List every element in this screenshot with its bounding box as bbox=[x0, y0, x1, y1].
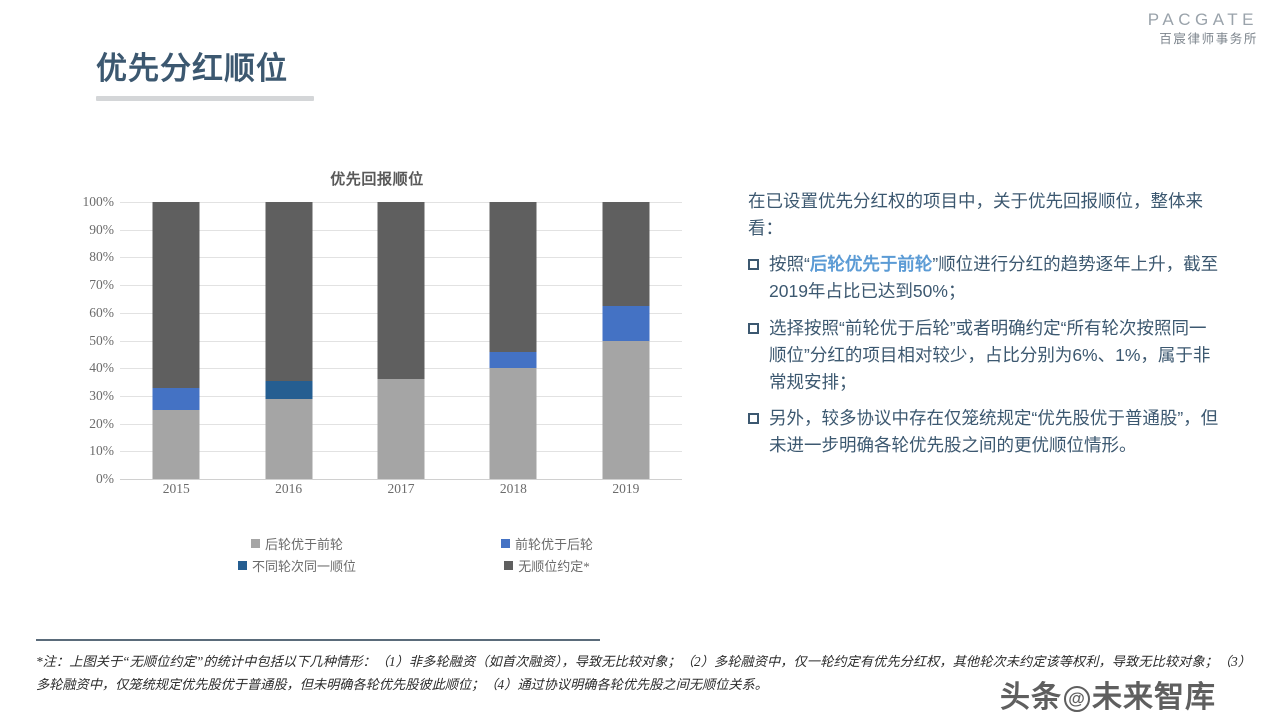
y-axis-tick-label: 40% bbox=[89, 360, 114, 376]
bar-segment[interactable] bbox=[153, 388, 200, 410]
x-axis-tick-label: 2016 bbox=[232, 481, 344, 497]
bar-slot-2017[interactable] bbox=[345, 202, 457, 479]
legend-swatch-icon bbox=[504, 561, 513, 570]
y-axis-tick-label: 50% bbox=[89, 333, 114, 349]
stacked-bar[interactable] bbox=[602, 202, 649, 479]
bar-slot-2018[interactable] bbox=[457, 202, 569, 479]
x-axis: 20152016201720182019 bbox=[120, 481, 682, 497]
at-icon: @ bbox=[1064, 686, 1090, 712]
y-axis-tick-label: 70% bbox=[89, 277, 114, 293]
bar-segment[interactable] bbox=[490, 202, 537, 352]
bullet-square-icon bbox=[748, 259, 759, 270]
legend-swatch-icon bbox=[501, 539, 510, 548]
x-axis-tick-label: 2015 bbox=[120, 481, 232, 497]
bar-segment[interactable] bbox=[602, 202, 649, 306]
commentary-bullet: 另外，较多协议中存在仅笼统规定“优先股优于普通股”，但未进一步明确各轮优先股之间… bbox=[748, 405, 1220, 459]
bullet-square-icon bbox=[748, 413, 759, 424]
commentary-bullet-text: 选择按照“前轮优于后轮”或者明确约定“所有轮次按照同一顺位”分红的项目相对较少，… bbox=[769, 315, 1220, 396]
legend-item[interactable]: 不同轮次同一顺位 bbox=[172, 556, 422, 575]
y-axis: 100%90%80%70%60%50%40%30%20%10%0% bbox=[62, 202, 118, 479]
bar-slot-2015[interactable] bbox=[120, 202, 232, 479]
chart-title: 优先回报顺位 bbox=[52, 168, 702, 189]
y-axis-tick-label: 90% bbox=[89, 222, 114, 238]
page-title: 优先分红顺位 bbox=[96, 50, 326, 87]
y-axis-tick-label: 100% bbox=[83, 194, 115, 210]
y-axis-tick-label: 10% bbox=[89, 443, 114, 459]
stacked-bar[interactable] bbox=[490, 202, 537, 479]
x-axis-tick-label: 2019 bbox=[570, 481, 682, 497]
y-axis-tick-label: 0% bbox=[96, 471, 114, 487]
chart-container: 优先回报顺位 100%90%80%70%60%50%40%30%20%10%0%… bbox=[62, 168, 702, 558]
x-axis-tick-label: 2018 bbox=[457, 481, 569, 497]
legend-swatch-icon bbox=[251, 539, 260, 548]
y-axis-tick-label: 20% bbox=[89, 416, 114, 432]
bar-segment[interactable] bbox=[378, 379, 425, 479]
title-underline-divider bbox=[96, 96, 314, 101]
stacked-bar[interactable] bbox=[378, 202, 425, 479]
plot-canvas bbox=[120, 202, 682, 479]
legend-label: 前轮优于后轮 bbox=[515, 534, 593, 553]
commentary-bullet-text: 另外，较多协议中存在仅笼统规定“优先股优于普通股”，但未进一步明确各轮优先股之间… bbox=[769, 405, 1220, 459]
commentary-bullet: 选择按照“前轮优于后轮”或者明确约定“所有轮次按照同一顺位”分红的项目相对较少，… bbox=[748, 315, 1220, 396]
y-axis-tick-label: 30% bbox=[89, 388, 114, 404]
commentary-bullet: 按照“后轮优先于前轮”顺位进行分红的趋势逐年上升，截至2019年占比已达到50%… bbox=[748, 251, 1220, 305]
bar-segment[interactable] bbox=[378, 202, 425, 379]
chart-plot-area: 100%90%80%70%60%50%40%30%20%10%0% 201520… bbox=[62, 202, 702, 522]
highlighted-phrase: 后轮优先于前轮 bbox=[810, 254, 933, 274]
watermark-handle: 未来智库 bbox=[1092, 681, 1216, 714]
legend-item[interactable]: 无顺位约定* bbox=[422, 556, 672, 575]
commentary-panel: 在已设置优先分红权的项目中，关于优先回报顺位，整体来看： 按照“后轮优先于前轮”… bbox=[748, 188, 1220, 468]
bar-segment[interactable] bbox=[153, 410, 200, 479]
bar-segment[interactable] bbox=[490, 368, 537, 479]
y-axis-tick-label: 60% bbox=[89, 305, 114, 321]
bar-segment[interactable] bbox=[153, 202, 200, 388]
bar-segment[interactable] bbox=[265, 399, 312, 479]
watermark-source: 头条 bbox=[1000, 681, 1062, 714]
commentary-bullet-text: 按照“后轮优先于前轮”顺位进行分红的趋势逐年上升，截至2019年占比已达到50%… bbox=[769, 251, 1220, 305]
bar-slot-2019[interactable] bbox=[570, 202, 682, 479]
stacked-bar[interactable] bbox=[153, 202, 200, 479]
legend-label: 后轮优于前轮 bbox=[265, 534, 343, 553]
bar-segment[interactable] bbox=[602, 306, 649, 341]
gridline bbox=[120, 479, 682, 480]
legend-label: 无顺位约定* bbox=[518, 556, 590, 575]
brand-logo: PACGATE 百宸律师事务所 bbox=[1148, 10, 1258, 46]
legend-item[interactable]: 后轮优于前轮 bbox=[172, 534, 422, 553]
commentary-intro: 在已设置优先分红权的项目中，关于优先回报顺位，整体来看： bbox=[748, 188, 1220, 242]
y-axis-tick-label: 80% bbox=[89, 249, 114, 265]
brand-name-cn: 百宸律师事务所 bbox=[1148, 32, 1258, 46]
legend-item[interactable]: 前轮优于后轮 bbox=[422, 534, 672, 553]
x-axis-tick-label: 2017 bbox=[345, 481, 457, 497]
bar-segment[interactable] bbox=[265, 202, 312, 381]
legend-swatch-icon bbox=[238, 561, 247, 570]
bar-segment[interactable] bbox=[490, 352, 537, 369]
bar-slot-2016[interactable] bbox=[232, 202, 344, 479]
chart-legend: 后轮优于前轮前轮优于后轮不同轮次同一顺位无顺位约定* bbox=[172, 534, 672, 575]
watermark: 头条@未来智库 bbox=[1000, 672, 1216, 716]
stacked-bar[interactable] bbox=[265, 202, 312, 479]
bullet-square-icon bbox=[748, 323, 759, 334]
footer-divider bbox=[36, 639, 600, 641]
legend-label: 不同轮次同一顺位 bbox=[252, 556, 356, 575]
bar-segment[interactable] bbox=[265, 381, 312, 399]
slide-title-block: 优先分红顺位 bbox=[96, 50, 326, 101]
brand-name-en: PACGATE bbox=[1148, 10, 1258, 30]
bar-series-group bbox=[120, 202, 682, 479]
commentary-bullet-list: 按照“后轮优先于前轮”顺位进行分红的趋势逐年上升，截至2019年占比已达到50%… bbox=[748, 251, 1220, 459]
bar-segment[interactable] bbox=[602, 341, 649, 480]
